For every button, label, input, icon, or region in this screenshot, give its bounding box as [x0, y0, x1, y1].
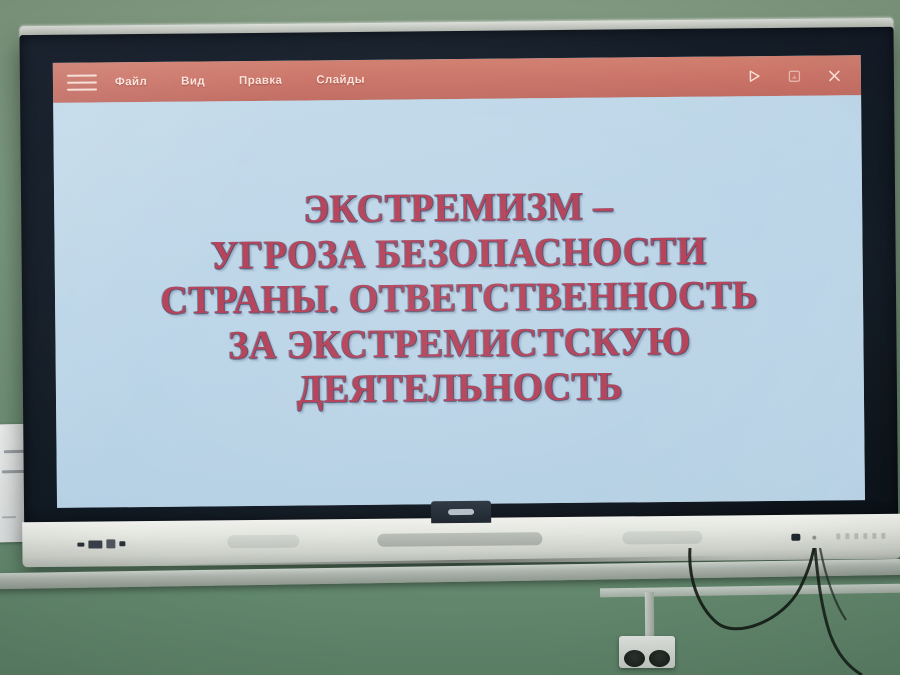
ir-sensor-module — [431, 501, 491, 524]
slide-title-line-5: ДЕЯТЕЛЬНОСТЬ — [161, 363, 759, 414]
menu-file[interactable]: Файл — [115, 76, 147, 88]
hamburger-menu-icon[interactable] — [67, 69, 97, 95]
slide-title-line-4: ЗА ЭКСТРЕМИСТСКУЮ — [161, 318, 759, 369]
control-key[interactable] — [872, 533, 876, 539]
cable — [815, 548, 862, 675]
hanging-power-cables — [0, 548, 900, 675]
poster-text-line — [2, 516, 16, 518]
slide-title-line-3: СТРАНЫ. ОТВЕТСТВЕННОСТЬ — [160, 273, 758, 324]
control-key[interactable] — [854, 533, 858, 539]
hamburger-bar — [67, 74, 97, 76]
restore-button[interactable] — [781, 63, 807, 89]
speaker-grille — [377, 532, 542, 547]
port — [88, 540, 102, 548]
toolbar-spacer — [399, 76, 741, 79]
speaker-grille — [622, 531, 702, 545]
presentation-slide[interactable]: ЭКСТРЕМИЗМ – УГРОЗА БЕЗОПАСНОСТИ СТРАНЫ.… — [53, 95, 865, 508]
status-indicator — [812, 536, 816, 540]
interactive-flat-panel: Файл Вид Правка Слайды — [19, 18, 898, 571]
play-icon — [747, 69, 761, 83]
front-control-keys[interactable] — [836, 533, 885, 539]
cable — [690, 548, 814, 629]
menu-slides[interactable]: Слайды — [316, 74, 365, 86]
panel-screen[interactable]: Файл Вид Правка Слайды — [53, 55, 865, 508]
menu-edit[interactable]: Правка — [239, 75, 282, 87]
power-led — [791, 534, 800, 541]
control-key[interactable] — [845, 533, 849, 539]
hamburger-bar — [67, 88, 97, 90]
control-key[interactable] — [881, 533, 885, 539]
menu-view[interactable]: Вид — [181, 75, 205, 87]
window-icon — [787, 69, 800, 82]
control-key[interactable] — [836, 533, 840, 539]
slide-title-line-2: УГРОЗА БЕЗОПАСНОСТИ — [160, 228, 758, 279]
close-icon — [826, 68, 841, 83]
control-key[interactable] — [863, 533, 867, 539]
port — [77, 542, 84, 546]
ir-window — [448, 509, 474, 515]
present-button[interactable] — [741, 63, 767, 89]
hamburger-bar — [67, 81, 97, 83]
port — [119, 541, 125, 546]
slide-title-line-1: ЭКСТРЕМИЗМ – — [159, 183, 757, 234]
classroom-wall: Файл Вид Правка Слайды — [0, 0, 900, 675]
speaker-grille — [227, 535, 299, 549]
slide-title: ЭКСТРЕМИЗМ – УГРОЗА БЕЗОПАСНОСТИ СТРАНЫ.… — [145, 183, 773, 414]
close-button[interactable] — [821, 62, 847, 88]
panel-frame: Файл Вид Правка Слайды — [19, 27, 898, 525]
